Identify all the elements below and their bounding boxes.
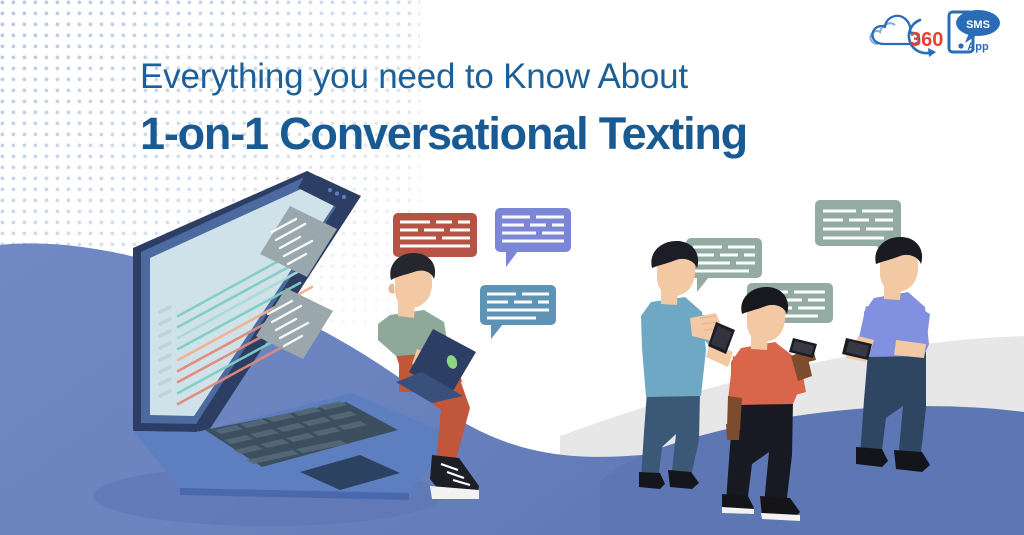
person-periwinkle-shirt (842, 237, 930, 472)
logo-app-text: App (967, 41, 989, 53)
peri-pants (860, 352, 926, 462)
blue-shoe-right (668, 470, 699, 489)
blue-shoe-left (639, 472, 665, 489)
banner-image: Everything you need to Know About 1-on-1… (0, 0, 1024, 535)
chat-bubble-steelblue (480, 285, 556, 339)
logo-svg: 360 SMS App (866, 4, 1002, 66)
seated-ear (389, 284, 395, 294)
headline-block: Everything you need to Know About 1-on-1… (140, 56, 900, 160)
blue-pants (641, 392, 700, 481)
headline-title: 1-on-1 Conversational Texting (140, 107, 900, 160)
peri-shoe-right (894, 450, 930, 472)
seated-shoe (430, 455, 479, 499)
logo-360-sms-app[interactable]: 360 SMS App (866, 4, 1002, 66)
headline-subtitle: Everything you need to Know About (140, 56, 900, 97)
chat-bubble-purple (495, 208, 571, 267)
person-blue-shirt (639, 241, 735, 489)
logo-number: 360 (910, 29, 943, 51)
rust-hand-left (726, 424, 740, 440)
logo-badge-text: SMS (966, 19, 990, 31)
peri-shoe-left (856, 447, 888, 467)
rust-arm-left (728, 356, 745, 402)
